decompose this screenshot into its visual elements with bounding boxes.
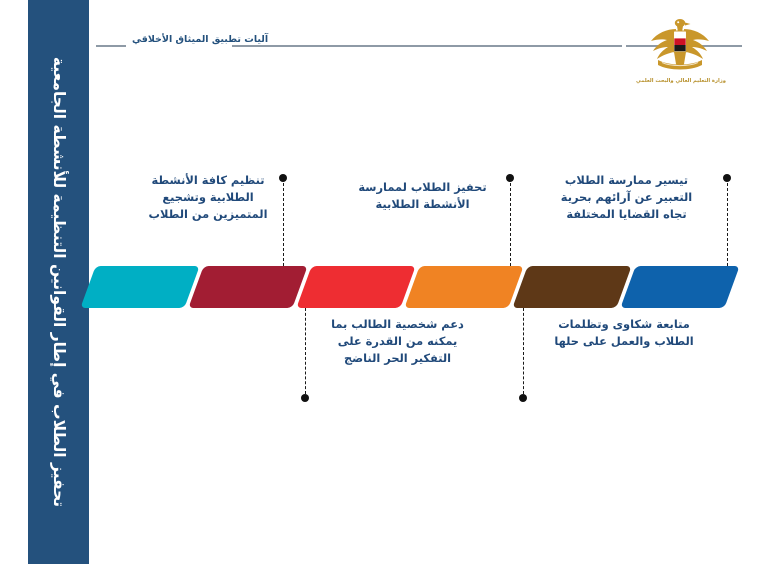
egypt-eagle-emblem-icon [645, 14, 715, 76]
callout-top-left: تنظيم كافة الأنشطة الطلابية وتشجيع المتم… [134, 172, 282, 223]
callout-line: التفكير الحر الناضج [315, 350, 480, 367]
callout-line: متابعة شكاوى وتظلمات [534, 316, 714, 333]
callout-bottom-middle: دعم شخصية الطالب بما يمكنه من القدرة على… [315, 316, 480, 367]
connector-line-top-middle [510, 183, 511, 266]
header-section-label: آليات تطبيق الميثاق الأخلاقي [132, 34, 268, 45]
segment-brown[interactable] [512, 266, 631, 308]
segment-cyan[interactable] [80, 266, 199, 308]
segment-red[interactable] [296, 266, 415, 308]
slide-canvas: تحفيز الطلاب في إطار القوانين التنظيمة ل… [0, 0, 781, 564]
connector-line-bottom-middle [305, 308, 306, 394]
callout-line: الطلاب والعمل على حلها [534, 333, 714, 350]
header-rule-right [232, 45, 622, 47]
callout-bottom-right: متابعة شكاوى وتظلمات الطلاب والعمل على ح… [534, 316, 714, 350]
connector-dot-top-right [723, 174, 731, 182]
segment-blue[interactable] [620, 266, 739, 308]
sidebar-panel: تحفيز الطلاب في إطار القوانين التنظيمة ل… [28, 0, 89, 564]
callout-line: المتميزين من الطلاب [134, 206, 282, 223]
callout-line: تيسير ممارسة الطلاب [534, 172, 719, 189]
callout-line: يمكنه من القدرة على [315, 333, 480, 350]
callout-line: الأنشطة الطلابية [340, 196, 505, 213]
callout-top-middle: تحفيز الطلاب لممارسة الأنشطة الطلابية [340, 179, 505, 213]
connector-line-bottom-right [523, 308, 524, 394]
connector-dot-top-middle [506, 174, 514, 182]
connector-line-top-right [727, 183, 728, 266]
sidebar-vertical-title: تحفيز الطلاب في إطار القوانين التنظيمة ل… [50, 47, 68, 517]
callout-line: التعبير عن آرائهم بحرية [534, 189, 719, 206]
connector-dot-bottom-right [519, 394, 527, 402]
header-rule-left [96, 45, 126, 47]
callout-line: الطلابية وتشجيع [134, 189, 282, 206]
callout-line: تنظيم كافة الأنشطة [134, 172, 282, 189]
callout-line: تحفيز الطلاب لممارسة [340, 179, 505, 196]
ministry-caption: وزارة التعليم العالي والبحث العلمي [624, 78, 738, 84]
segment-orange[interactable] [404, 266, 523, 308]
connector-line-top-left [283, 183, 284, 266]
callout-line: دعم شخصية الطالب بما [315, 316, 480, 333]
segment-maroon[interactable] [188, 266, 307, 308]
callout-line: تجاه القضايا المختلفة [534, 206, 719, 223]
connector-dot-bottom-middle [301, 394, 309, 402]
process-band [88, 266, 728, 308]
callout-top-right: تيسير ممارسة الطلاب التعبير عن آرائهم بح… [534, 172, 719, 223]
